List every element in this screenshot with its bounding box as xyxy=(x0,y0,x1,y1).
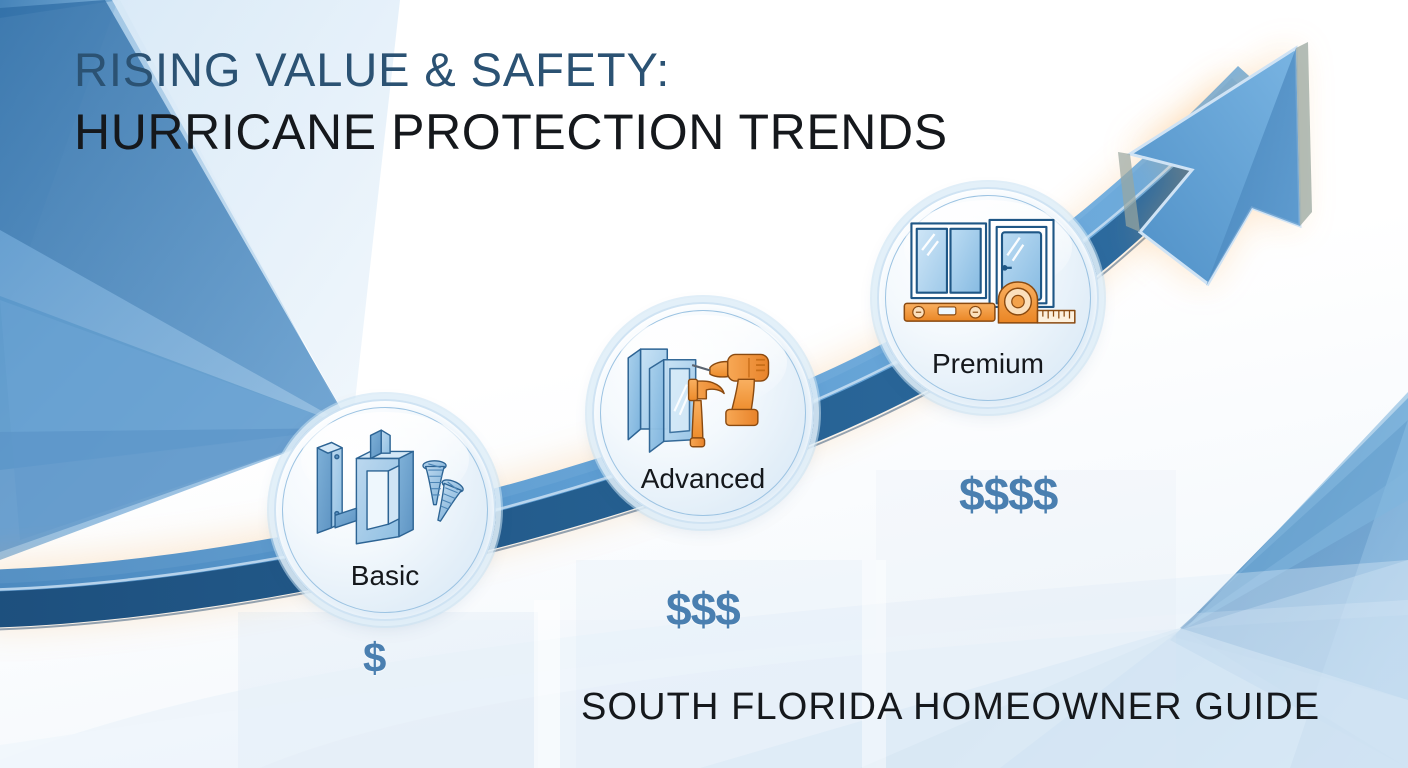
impact-window-door-level-tape-measure-icon xyxy=(899,211,1077,344)
price-marker-premium: $$$$ xyxy=(959,467,1057,521)
price-marker-basic: $ xyxy=(363,634,385,682)
window-frame-track-and-screws-icon xyxy=(296,423,474,556)
tier-label-basic: Basic xyxy=(274,560,496,592)
tier-badge-basic[interactable]: Basic xyxy=(274,399,496,621)
tier-label-advanced: Advanced xyxy=(592,463,814,495)
title-block: RISING VALUE & SAFETY: HURRICANE PROTECT… xyxy=(74,46,948,157)
tier-label-premium: Premium xyxy=(877,348,1099,380)
page-title-line-2: HURRICANE PROTECTION TRENDS xyxy=(74,107,948,157)
impact-glass-panels-hammer-drill-icon xyxy=(614,326,792,459)
tier-badge-premium[interactable]: Premium xyxy=(877,187,1099,409)
page-title-line-1: RISING VALUE & SAFETY: xyxy=(74,46,948,93)
infographic-poster: RISING VALUE & SAFETY: HURRICANE PROTECT… xyxy=(0,0,1408,768)
price-marker-advanced: $$$ xyxy=(666,582,740,636)
footer-caption: SOUTH FLORIDA HOMEOWNER GUIDE xyxy=(581,686,1320,729)
tier-badge-advanced[interactable]: Advanced xyxy=(592,302,814,524)
